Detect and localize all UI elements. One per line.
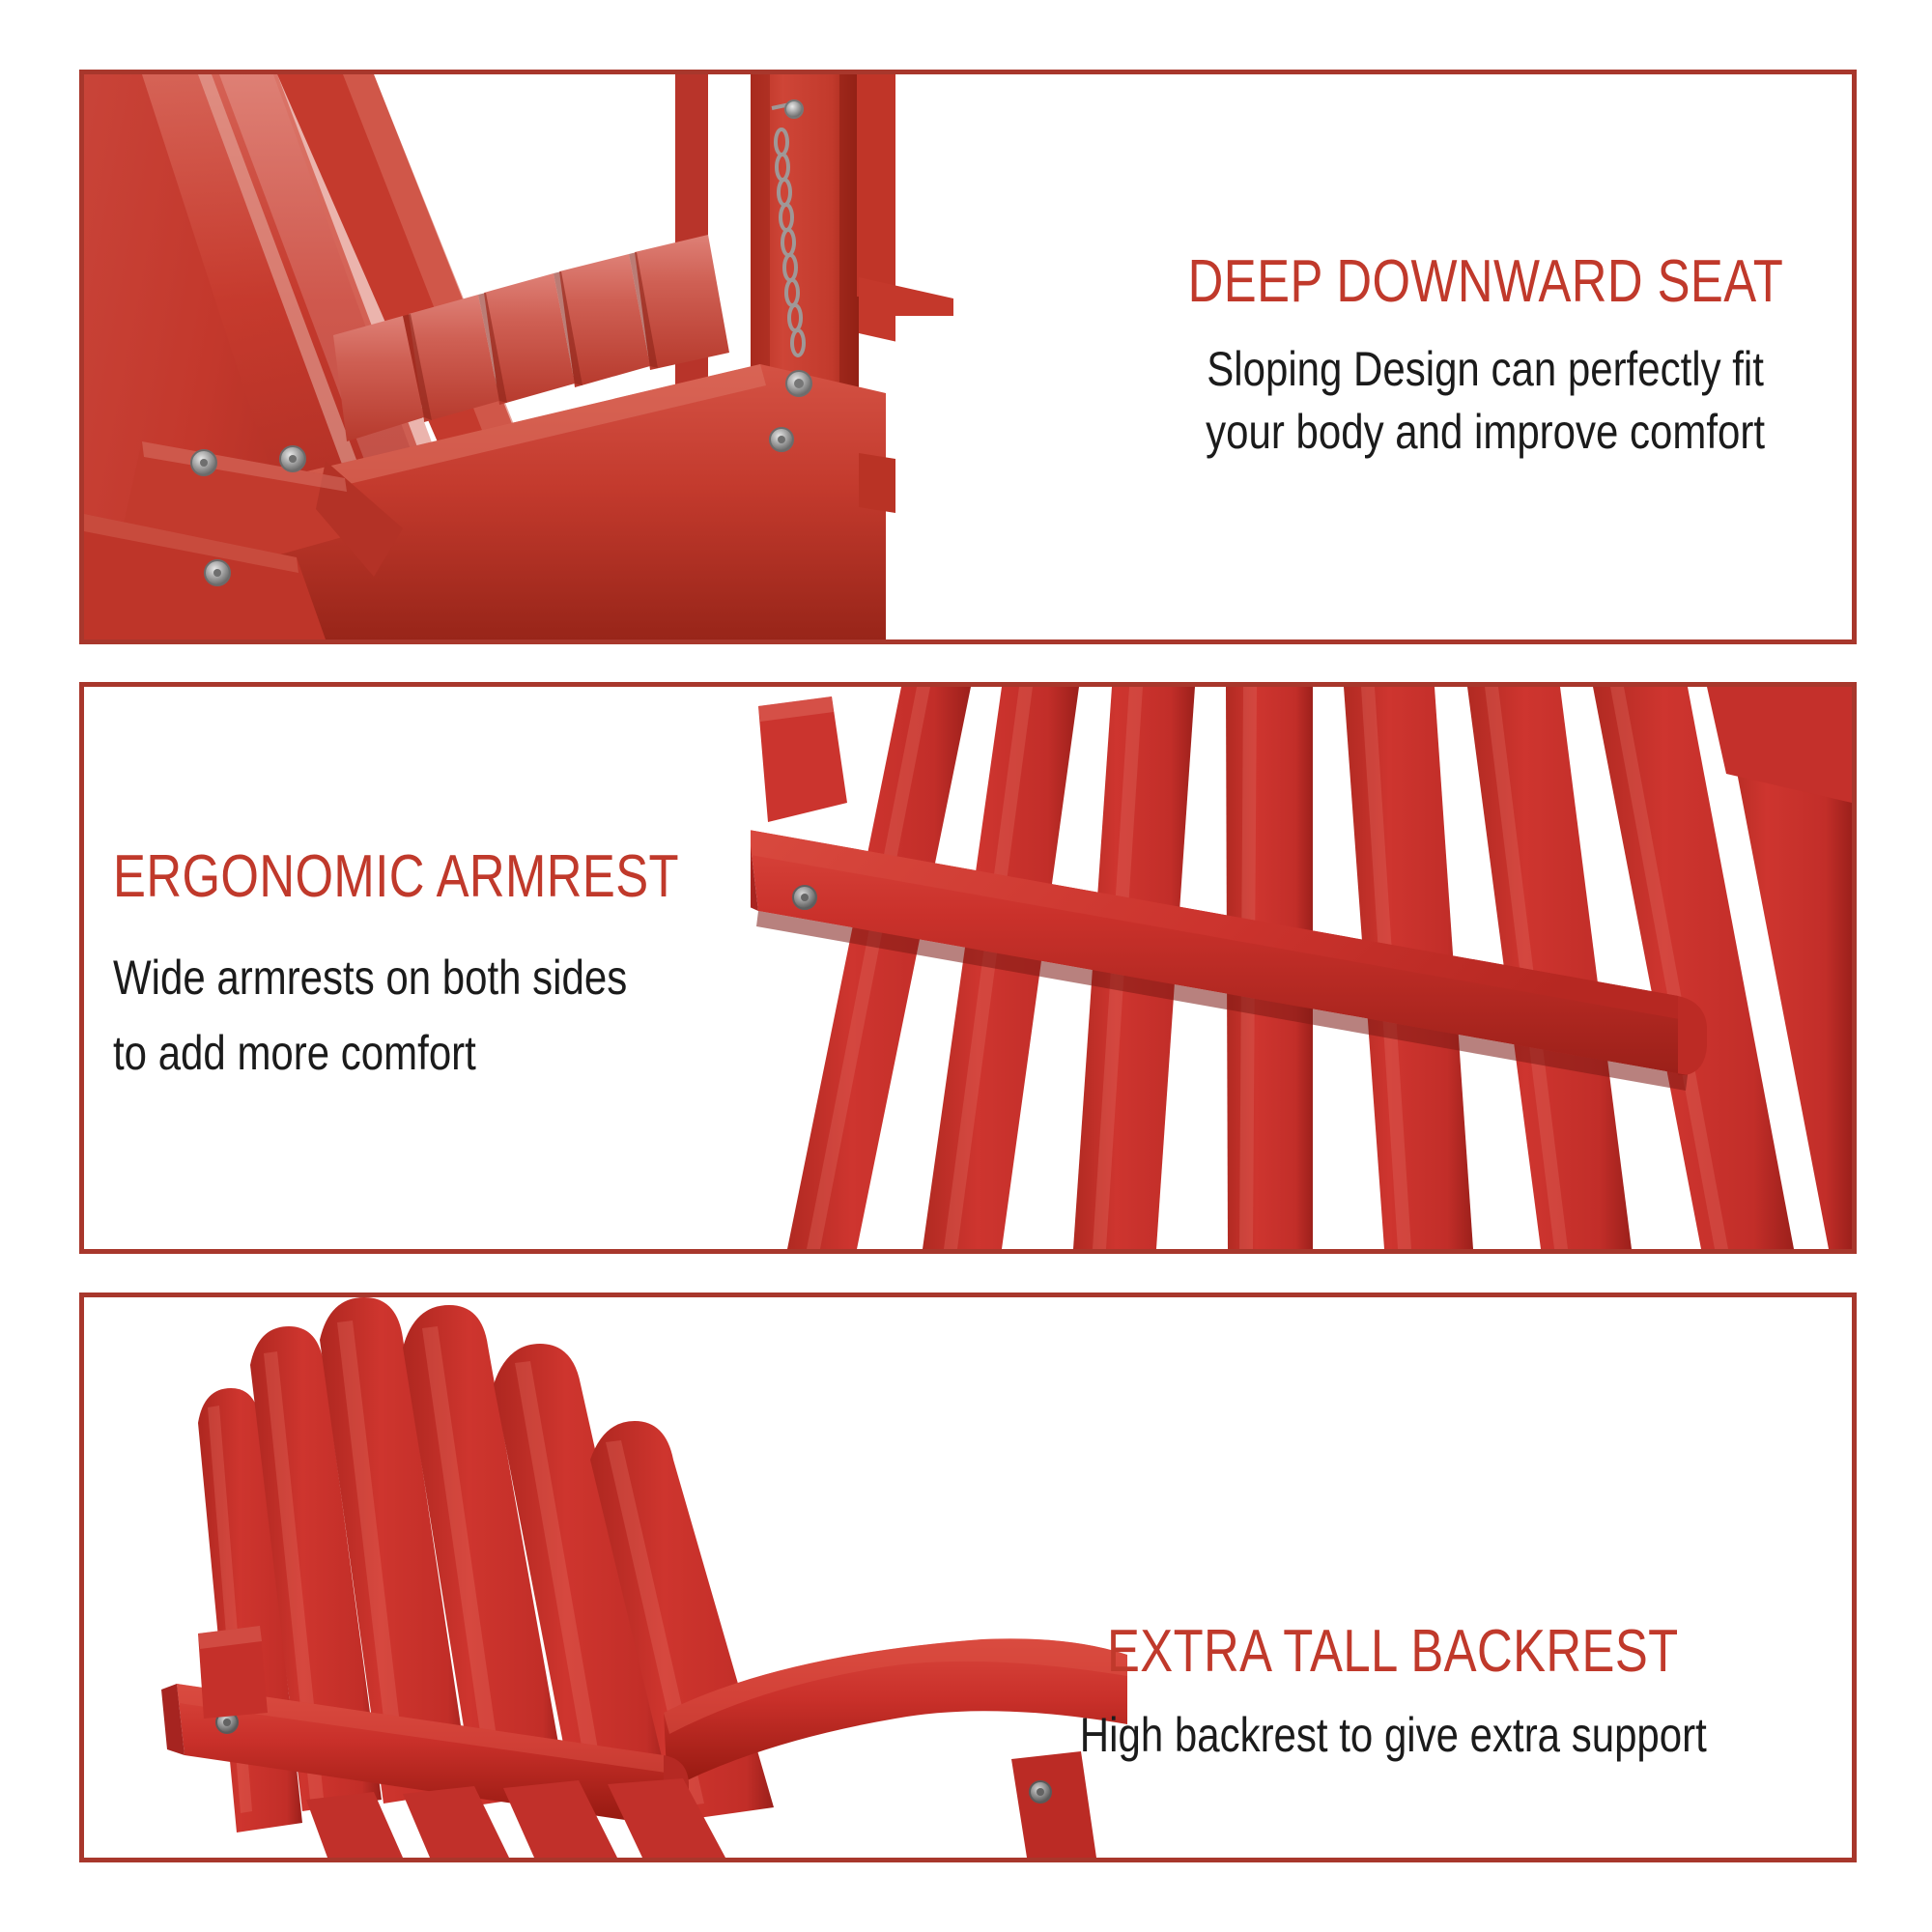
feature-panel-deep-downward-seat: DEEP DOWNWARD SEAT Sloping Design can pe… — [79, 70, 1857, 644]
panel-1-subtext: Sloping Design can perfectly fit your bo… — [1207, 338, 1766, 464]
panel-1-headline: DEEP DOWNWARD SEAT — [1188, 250, 1784, 313]
product-feature-infographic: DEEP DOWNWARD SEAT Sloping Design can pe… — [0, 0, 1932, 1932]
panel-3-text-block: EXTRA TALL BACKREST High backrest to giv… — [944, 1297, 1842, 1858]
panel-3-subtext: High backrest to give extra support — [1079, 1704, 1706, 1767]
chair-armrest-closeup-photo — [712, 687, 1852, 1249]
feature-panel-extra-tall-backrest: EXTRA TALL BACKREST High backrest to giv… — [79, 1293, 1857, 1862]
panel-2-text-block: ERGONOMIC ARMREST Wide armrests on both … — [113, 687, 789, 1249]
panel-2-subtext: Wide armrests on both sides to add more … — [113, 941, 627, 1091]
panel-2-subtext-line-2: to add more comfort — [113, 1016, 627, 1092]
panel-1-text-block: DEEP DOWNWARD SEAT Sloping Design can pe… — [1118, 74, 1854, 639]
panel-2-subtext-line-1: Wide armrests on both sides — [113, 941, 627, 1016]
panel-1-subtext-line-1: Sloping Design can perfectly fit — [1207, 338, 1766, 401]
feature-panel-ergonomic-armrest: ERGONOMIC ARMREST Wide armrests on both … — [79, 682, 1857, 1254]
panel-3-subtext-line-1: High backrest to give extra support — [1079, 1704, 1706, 1767]
chair-seat-closeup-photo — [84, 74, 1108, 639]
chair-seat-illustration — [84, 74, 1108, 639]
chain-anchor-screw — [785, 100, 803, 118]
armrest-illustration — [712, 687, 1852, 1249]
panel-2-headline: ERGONOMIC ARMREST — [113, 845, 679, 908]
panel-3-headline: EXTRA TALL BACKREST — [1107, 1620, 1679, 1683]
panel-1-subtext-line-2: your body and improve comfort — [1207, 401, 1766, 464]
